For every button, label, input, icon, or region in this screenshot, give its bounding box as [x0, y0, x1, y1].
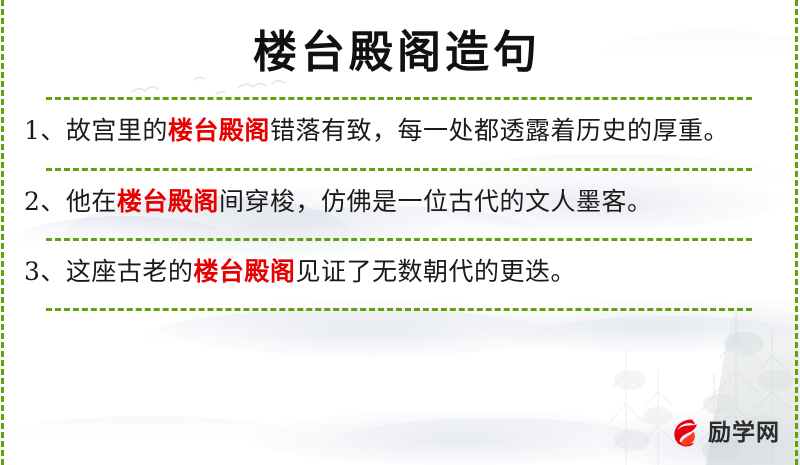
page-title: 楼台殿阁造句 [18, 0, 776, 80]
swirl-bird-logo-icon [668, 416, 702, 450]
sentence-text-after: 错落有致，每一处都透露着历史的厚重。 [270, 116, 729, 145]
sentence-text-before: 这座古老的 [66, 257, 194, 286]
left-dashed-border [1, 0, 4, 465]
sentence-text-before: 他在 [66, 187, 117, 216]
content-area: 楼台殿阁造句 1、故宫里的楼台殿阁错落有致，每一处都透露着历史的厚重。 2、他在… [0, 0, 800, 465]
sentence-item-1: 1、故宫里的楼台殿阁错落有致，每一处都透露着历史的厚重。 [18, 100, 776, 152]
sentence-text-after: 间穿梭，仿佛是一位古代的文人墨客。 [219, 187, 653, 216]
highlighted-keyword: 楼台殿阁 [193, 257, 295, 286]
sentence-number: 2、 [24, 187, 66, 216]
sentence-number: 1、 [24, 116, 66, 145]
site-logo[interactable]: 励学网 [668, 416, 780, 450]
sentence-card-page: 楼台殿阁造句 1、故宫里的楼台殿阁错落有致，每一处都透露着历史的厚重。 2、他在… [0, 0, 800, 465]
sentence-text-after: 见证了无数朝代的更迭。 [295, 257, 576, 286]
right-dashed-border [795, 0, 798, 465]
sentence-text-before: 故宫里的 [66, 116, 168, 145]
sentence-number: 3、 [24, 257, 66, 286]
sentence-item-3: 3、这座古老的楼台殿阁见证了无数朝代的更迭。 [18, 241, 776, 293]
divider-4 [46, 308, 752, 311]
site-logo-text: 励学网 [708, 422, 780, 445]
sentence-item-2: 2、他在楼台殿阁间穿梭，仿佛是一位古代的文人墨客。 [18, 171, 776, 223]
highlighted-keyword: 楼台殿阁 [168, 116, 270, 145]
highlighted-keyword: 楼台殿阁 [117, 187, 219, 216]
